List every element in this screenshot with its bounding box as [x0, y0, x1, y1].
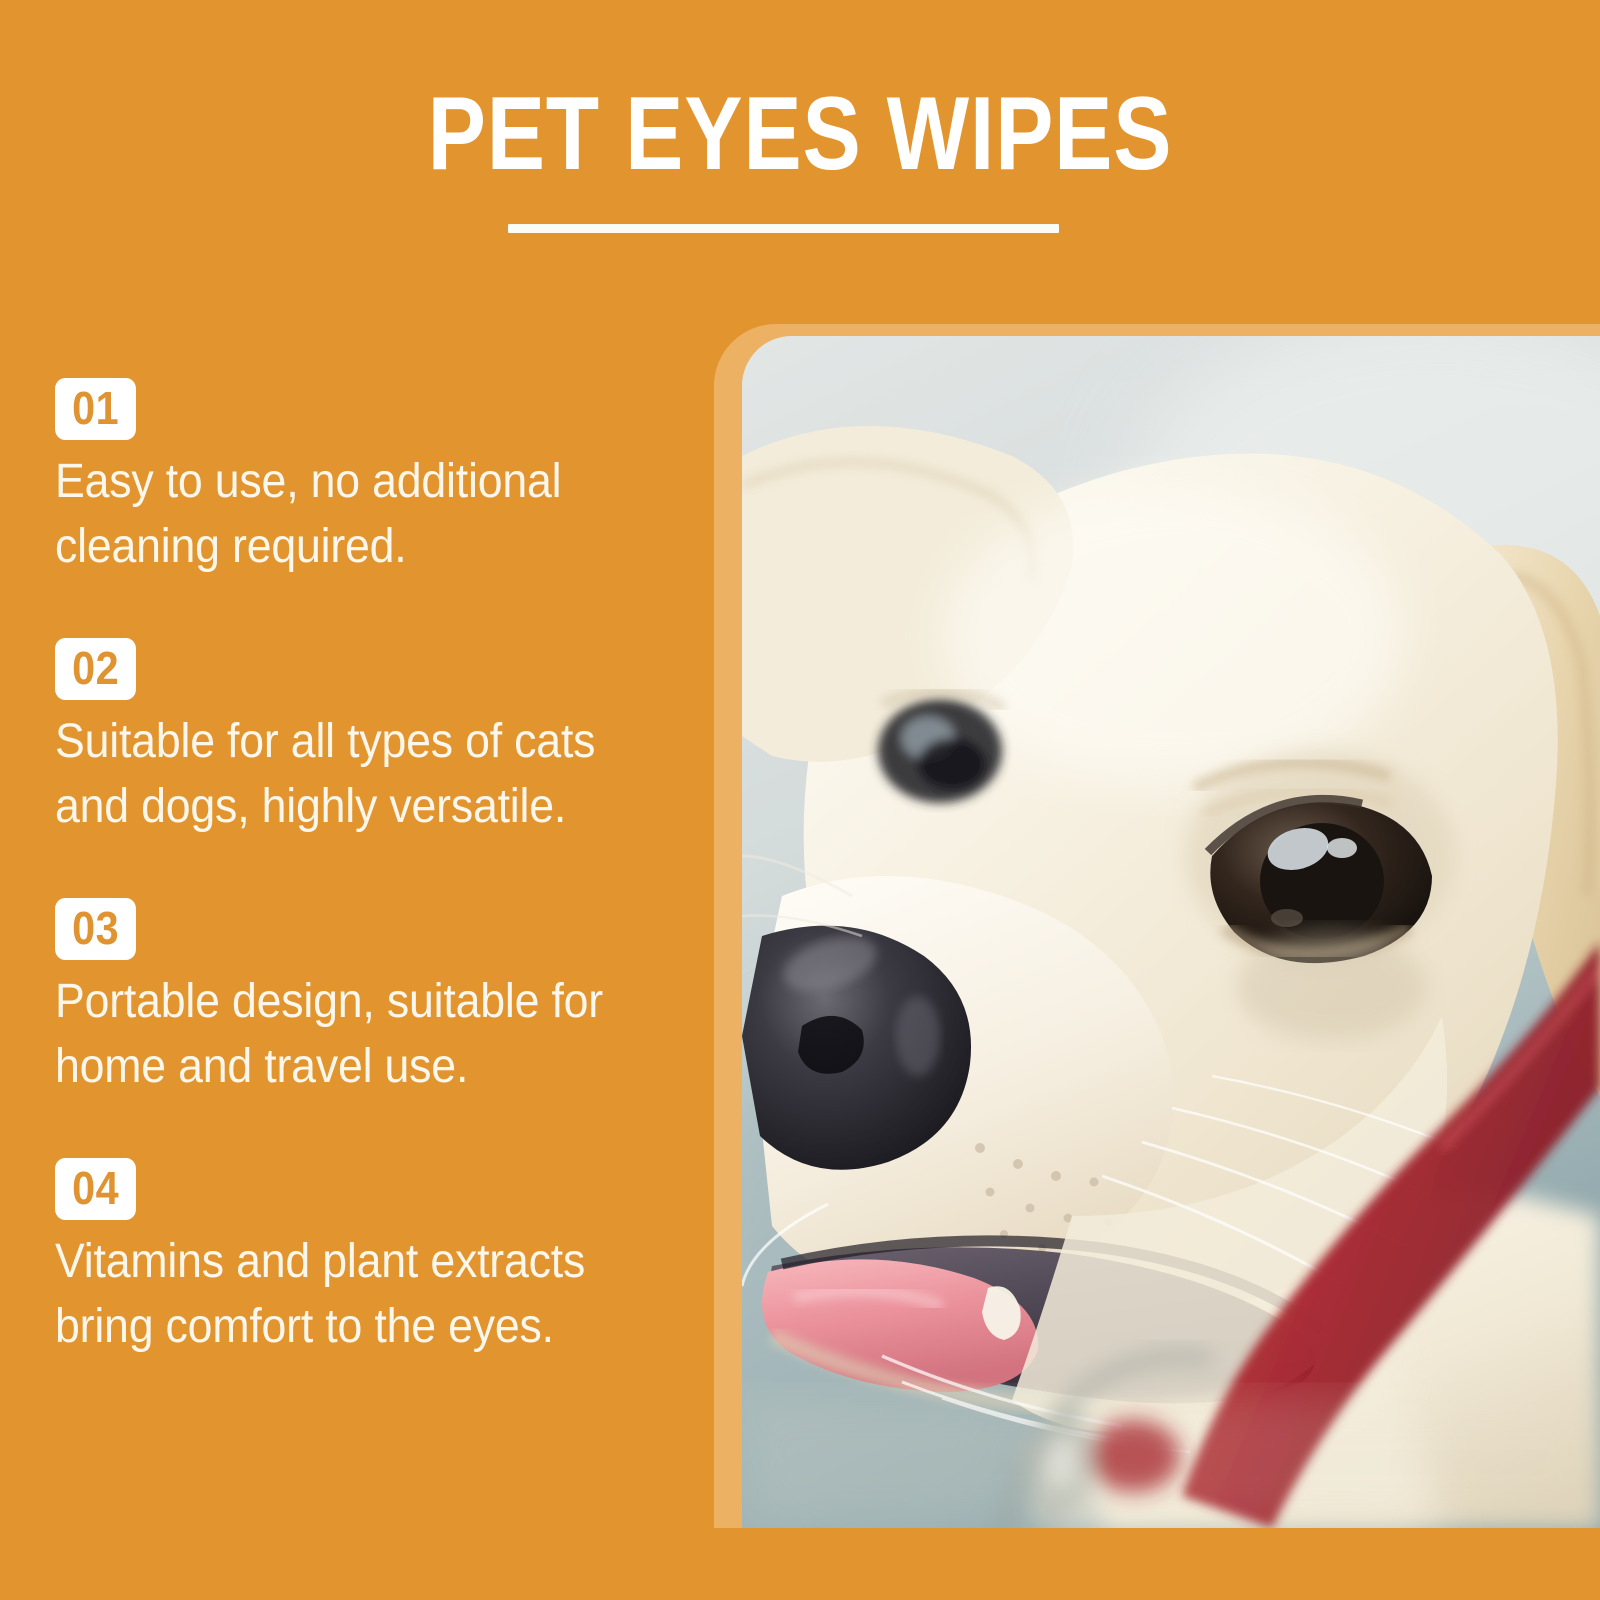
feature-item-04: 04 Vitamins and plant extracts bring com…: [55, 1158, 695, 1359]
feature-description: Vitamins and plant extracts bring comfor…: [55, 1229, 650, 1359]
feature-item-03: 03 Portable design, suitable for home an…: [55, 898, 695, 1099]
product-photo-dog: [742, 336, 1600, 1528]
feature-item-01: 01 Easy to use, no additional cleaning r…: [55, 378, 695, 579]
feature-number-badge: 03: [55, 898, 136, 960]
title-divider: [508, 224, 1059, 233]
feature-description: Suitable for all types of cats and dogs,…: [55, 709, 650, 839]
feature-description: Portable design, suitable for home and t…: [55, 969, 650, 1099]
feature-number-badge: 01: [55, 378, 136, 440]
feature-description: Easy to use, no additional cleaning requ…: [55, 449, 650, 579]
infographic-canvas: PET EYES WIPES 01 Easy to use, no additi…: [0, 0, 1600, 1600]
feature-number-badge: 04: [55, 1158, 136, 1220]
header: PET EYES WIPES: [0, 0, 1600, 300]
page-title: PET EYES WIPES: [128, 82, 1472, 186]
feature-list: 01 Easy to use, no additional cleaning r…: [0, 330, 700, 1430]
feature-number-badge: 02: [55, 638, 136, 700]
feature-item-02: 02 Suitable for all types of cats and do…: [55, 638, 695, 839]
dog-illustration: [742, 336, 1600, 1528]
